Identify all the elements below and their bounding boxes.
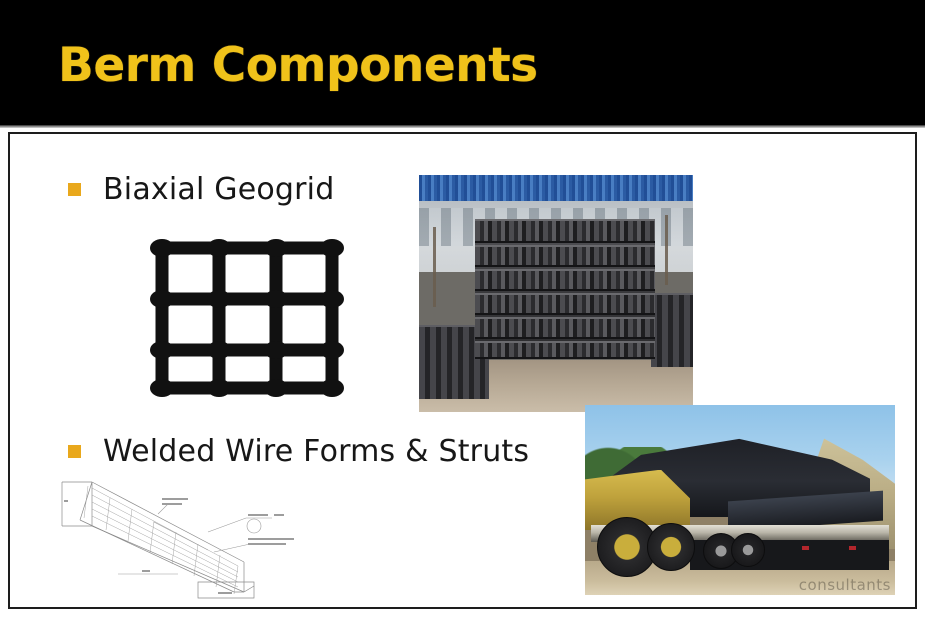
presentation-slide: Berm Components Biaxial Geogrid [0, 0, 925, 621]
welded-wire-form-drawing [58, 474, 368, 602]
photo-trailer-marker-light [849, 546, 856, 550]
bullet-label: Welded Wire Forms & Struts [103, 434, 529, 469]
biaxial-geogrid-diagram [144, 232, 349, 402]
bullet-label: Biaxial Geogrid [103, 172, 334, 207]
bullet-item-biaxial-geogrid: Biaxial Geogrid [68, 172, 334, 207]
stacked-geogrid-rolls-photo [419, 175, 693, 412]
photo-roll-layer [475, 245, 655, 267]
photo-roll-layer [475, 341, 655, 359]
photo-roll-layer [475, 317, 655, 339]
photo-roll-layer [475, 269, 655, 291]
photo-right-roll-stack [651, 293, 693, 367]
photo-blue-roof [419, 175, 693, 203]
photo-truck-wheel [647, 523, 695, 571]
truck-trailer-photo: consultants [585, 405, 895, 595]
photo-roll-layer [475, 219, 655, 243]
square-bullet-icon [68, 183, 81, 196]
photo-roll-layer [475, 293, 655, 315]
photo-tree-left [433, 227, 436, 307]
bullet-item-welded-wire-forms: Welded Wire Forms & Struts [68, 434, 529, 469]
photo-watermark: consultants [799, 576, 891, 594]
slide-body-frame: Biaxial Geogrid [8, 132, 917, 609]
square-bullet-icon [68, 445, 81, 458]
page-title: Berm Components [58, 40, 538, 92]
photo-trailer-marker-light [802, 546, 809, 550]
slide-header-band: Berm Components [0, 0, 925, 128]
photo-trailer-wheel [731, 533, 765, 567]
slide-body-area: Biaxial Geogrid [0, 128, 925, 621]
photo-tree-right [665, 215, 668, 285]
photo-main-roll-stack [475, 219, 655, 359]
